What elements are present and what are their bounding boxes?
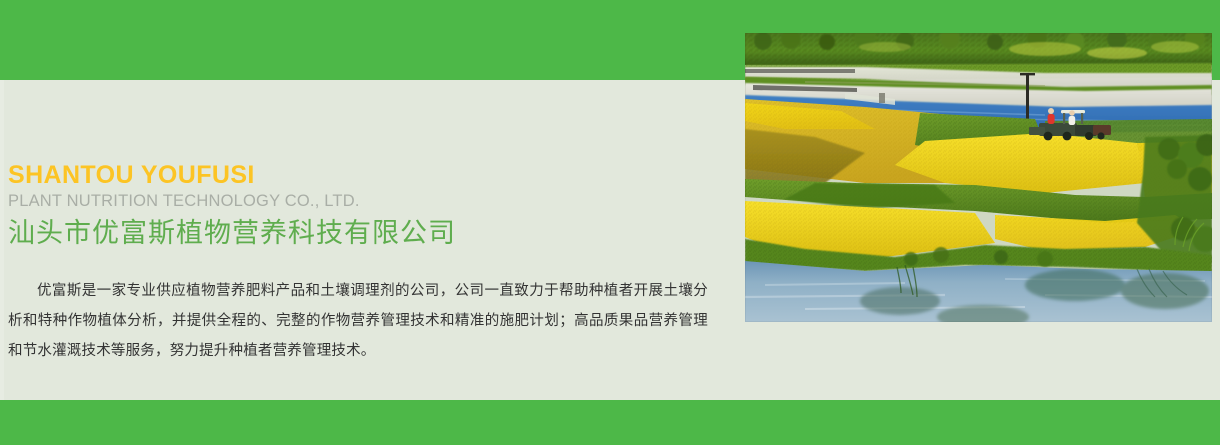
brand-name-english: SHANTOU YOUFUSI xyxy=(8,160,720,190)
page-root: SHANTOU YOUFUSI PLANT NUTRITION TECHNOLO… xyxy=(0,0,1220,445)
brand-content-block: SHANTOU YOUFUSI PLANT NUTRITION TECHNOLO… xyxy=(8,160,720,381)
brand-name-chinese: 汕头市优富斯植物营养科技有限公司 xyxy=(8,216,720,250)
hero-photo-rice-fields xyxy=(745,33,1212,322)
rice-field-illustration xyxy=(745,33,1212,322)
company-description-paragraph: 优富斯是一家专业供应植物营养肥料产品和土壤调理剂的公司，公司一直致力于帮助种植者… xyxy=(8,276,708,366)
left-accent-strip xyxy=(0,80,4,400)
footer-green-band xyxy=(0,400,1220,445)
brand-tagline-english: PLANT NUTRITION TECHNOLOGY CO., LTD. xyxy=(8,190,720,212)
